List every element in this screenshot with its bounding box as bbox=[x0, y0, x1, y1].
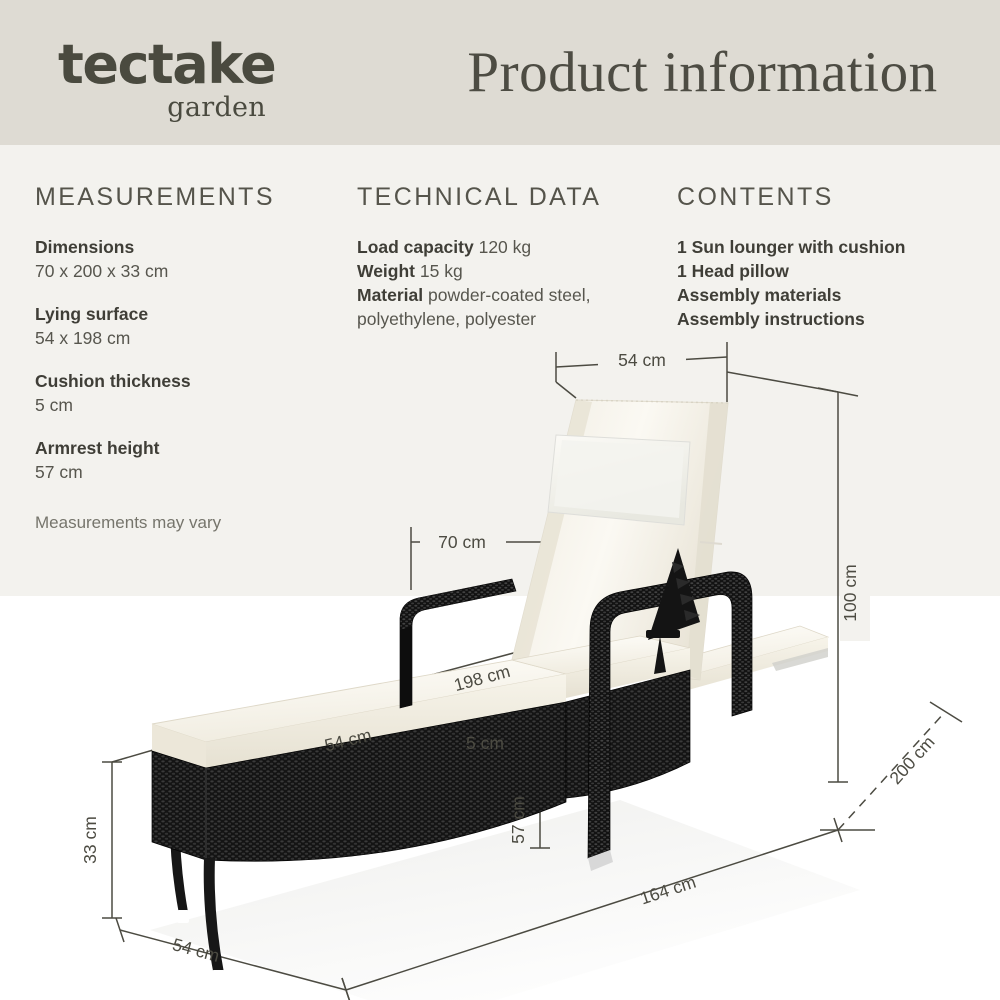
spec-label: Dimensions bbox=[35, 236, 335, 260]
product-dimension-diagram: 54 cm 100 cm 70 cm 198 cm 54 cm 5 cm bbox=[0, 330, 1000, 1000]
tech-label: Load capacity bbox=[357, 237, 474, 257]
tech-label: Weight bbox=[357, 261, 415, 281]
dim-label-seat-depth: 70 cm bbox=[438, 532, 486, 552]
technical-data-column: TECHNICAL DATA Load capacity 120 kg Weig… bbox=[357, 185, 657, 332]
measurements-heading: MEASUREMENTS bbox=[35, 185, 335, 210]
tech-label: Material bbox=[357, 285, 423, 305]
dim-label-total-length: 200 cm bbox=[885, 732, 938, 788]
spec-value: 70 x 200 x 33 cm bbox=[35, 260, 335, 284]
spec-group-dimensions: Dimensions 70 x 200 x 33 cm bbox=[35, 236, 335, 284]
spec-label: Lying surface bbox=[35, 303, 335, 327]
contents-column: CONTENTS 1 Sun lounger with cushion 1 He… bbox=[677, 185, 987, 332]
dim-label-cushion-thickness: 5 cm bbox=[466, 733, 504, 753]
tech-row-load-capacity: Load capacity 120 kg bbox=[357, 236, 657, 260]
tech-value: 120 kg bbox=[479, 237, 532, 257]
technical-data-heading: TECHNICAL DATA bbox=[357, 185, 657, 210]
contents-heading: CONTENTS bbox=[677, 185, 987, 210]
brand-logo: tectake garden bbox=[58, 38, 268, 123]
contents-item: 1 Sun lounger with cushion bbox=[677, 236, 987, 260]
tech-value: 15 kg bbox=[420, 261, 463, 281]
dim-label-armrest-height: 57 cm bbox=[508, 796, 528, 844]
tech-row-material: Material powder-coated steel, polyethyle… bbox=[357, 284, 657, 332]
contents-item: 1 Head pillow bbox=[677, 260, 987, 284]
head-pillow bbox=[548, 435, 690, 525]
page-title: Product information bbox=[430, 40, 975, 106]
brand-logo-main: tectake bbox=[58, 38, 268, 92]
contents-item: Assembly materials bbox=[677, 284, 987, 308]
product-information-sheet: tectake garden Product information MEASU… bbox=[0, 0, 1000, 1000]
dim-label-overall-height: 100 cm bbox=[840, 564, 860, 621]
dim-label-backrest-width: 54 cm bbox=[618, 350, 666, 370]
brand-logo-sub: garden bbox=[58, 94, 266, 121]
dim-label-frame-height: 33 cm bbox=[80, 816, 100, 864]
tech-row-weight: Weight 15 kg bbox=[357, 260, 657, 284]
contents-item: Assembly instructions bbox=[677, 308, 987, 332]
